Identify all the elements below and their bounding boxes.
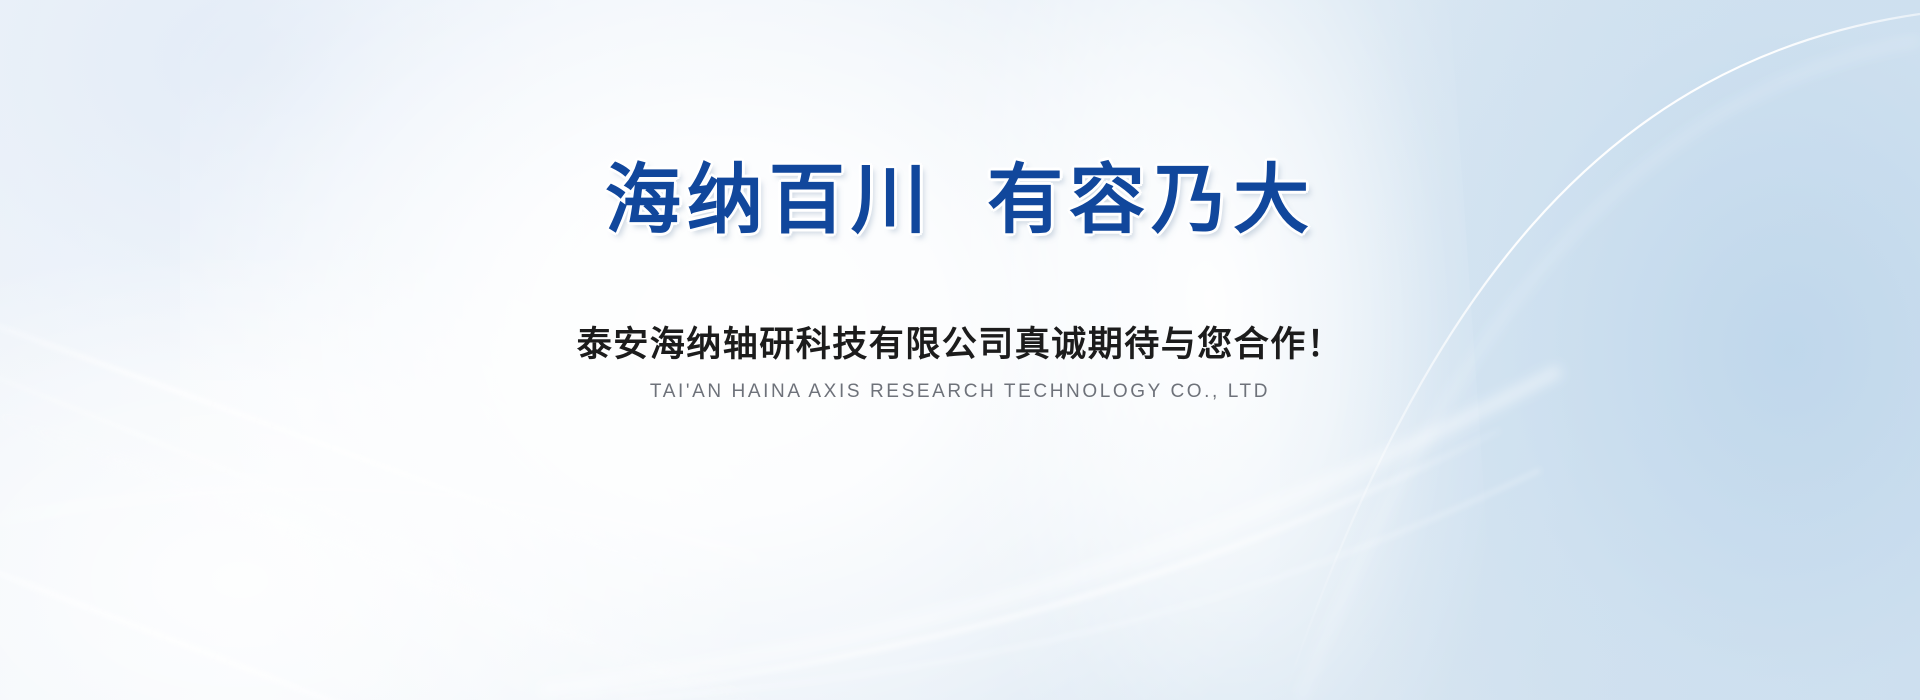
banner-headline: 海纳百川 有容乃大 bbox=[605, 160, 1315, 242]
banner-subtitle-english: TAI'AN HAINA AXIS RESEARCH TECHNOLOGY CO… bbox=[650, 381, 1270, 403]
banner-subtitle-chinese: 泰安海纳轴研科技有限公司真诚期待与您合作！ bbox=[577, 316, 1344, 367]
banner-content: 海纳百川 有容乃大 泰安海纳轴研科技有限公司真诚期待与您合作！ TAI'AN H… bbox=[0, 0, 1920, 700]
hero-banner: 海纳百川 有容乃大 泰安海纳轴研科技有限公司真诚期待与您合作！ TAI'AN H… bbox=[0, 0, 1920, 700]
